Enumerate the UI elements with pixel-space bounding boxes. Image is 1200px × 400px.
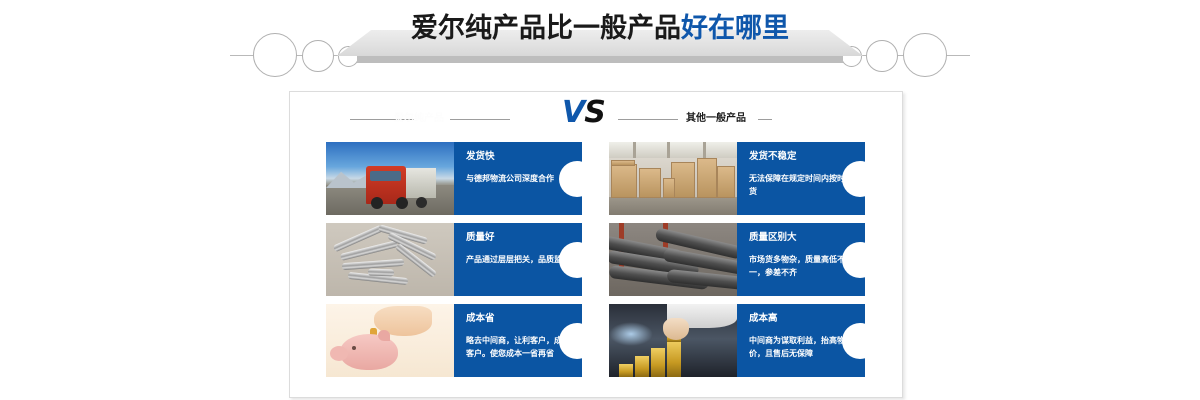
pipes-photo [609, 223, 737, 296]
card-description: 无法保障在规定时间内按时收货 [749, 172, 853, 198]
card-title: 成本高 [749, 313, 778, 325]
card-description: 略去中间商，让利客户，成就客户。使您成本一省再省 [466, 334, 570, 360]
vs-rule-right-inner [618, 119, 678, 120]
card-description: 产品通过层层把关，品质监控 [466, 253, 570, 266]
drawback-card-quality[interactable]: 质量区别大 市场货多物杂，质量高低不一，参差不齐 [609, 223, 865, 296]
vs-letter-s: S [584, 95, 605, 130]
page-header: 爱尔纯产品比一般产品好在哪里 [0, 0, 1200, 90]
truck-photo [326, 142, 454, 215]
card-description: 与德邦物流公司深度合作 [466, 172, 570, 185]
card-title: 发货快 [466, 151, 495, 163]
card-title: 成本省 [466, 313, 495, 325]
vs-badge: VS [562, 96, 605, 130]
card-body: 质量区别大 市场货多物杂，质量高低不一，参差不齐 [737, 223, 865, 296]
page-title-dark: 爱尔纯产品比一般产品 [411, 13, 681, 44]
drawback-card-cost[interactable]: 成本高 中间商为谋取利益，抬高物价，且售后无保障 [609, 304, 865, 377]
card-body: 质量好 产品通过层层把关，品质监控 [454, 223, 582, 296]
right-column-label: 其他一般产品 [686, 112, 746, 126]
card-body: 成本省 略去中间商，让利客户，成就客户。使您成本一省再省 [454, 304, 582, 377]
title-plate-shadow [357, 56, 843, 63]
vs-header-row: 爱尔纯产品 VS 其他一般产品 [290, 92, 904, 142]
advantage-card-quality[interactable]: 质量好 产品通过层层把关，品质监控 [326, 223, 582, 296]
advantage-card-delivery[interactable]: 发货快 与德邦物流公司深度合作 [326, 142, 582, 215]
card-title: 质量好 [466, 232, 495, 244]
left-column-label: 爱尔纯产品 [394, 112, 444, 126]
warehouse-photo [609, 142, 737, 215]
card-title: 发货不稳定 [749, 151, 797, 163]
piggy-bank-photo [326, 304, 454, 377]
vs-rule-left-inner [450, 119, 510, 120]
advantage-card-cost[interactable]: 成本省 略去中间商，让利客户，成就客户。使您成本一省再省 [326, 304, 582, 377]
left-advantages-column: 发货快 与德邦物流公司深度合作 质量好 产品 [326, 142, 582, 385]
page-title-blue: 好在哪里 [681, 13, 789, 44]
card-description: 市场货多物杂，质量高低不一，参差不齐 [749, 253, 853, 279]
card-notch [559, 161, 582, 197]
steel-bars-photo [326, 223, 454, 296]
card-notch [559, 242, 582, 278]
right-drawbacks-column: 发货不稳定 无法保障在规定时间内按时收货 质量区别大 [609, 142, 865, 385]
card-description: 中间商为谋取利益，抬高物价，且售后无保障 [749, 334, 853, 360]
card-body: 发货快 与德邦物流公司深度合作 [454, 142, 582, 215]
card-body: 发货不稳定 无法保障在规定时间内按时收货 [737, 142, 865, 215]
vs-letter-v: V [562, 95, 584, 130]
card-title: 质量区别大 [749, 232, 797, 244]
card-body: 成本高 中间商为谋取利益，抬高物价，且售后无保障 [737, 304, 865, 377]
vs-rule-right-outer [758, 119, 772, 120]
gold-coins-photo [609, 304, 737, 377]
comparison-panel: 爱尔纯产品 VS 其他一般产品 发货快 与德邦物流公司深度合作 [289, 91, 903, 398]
page-title: 爱尔纯产品比一般产品好在哪里 [0, 12, 1200, 46]
drawback-card-delivery[interactable]: 发货不稳定 无法保障在规定时间内按时收货 [609, 142, 865, 215]
